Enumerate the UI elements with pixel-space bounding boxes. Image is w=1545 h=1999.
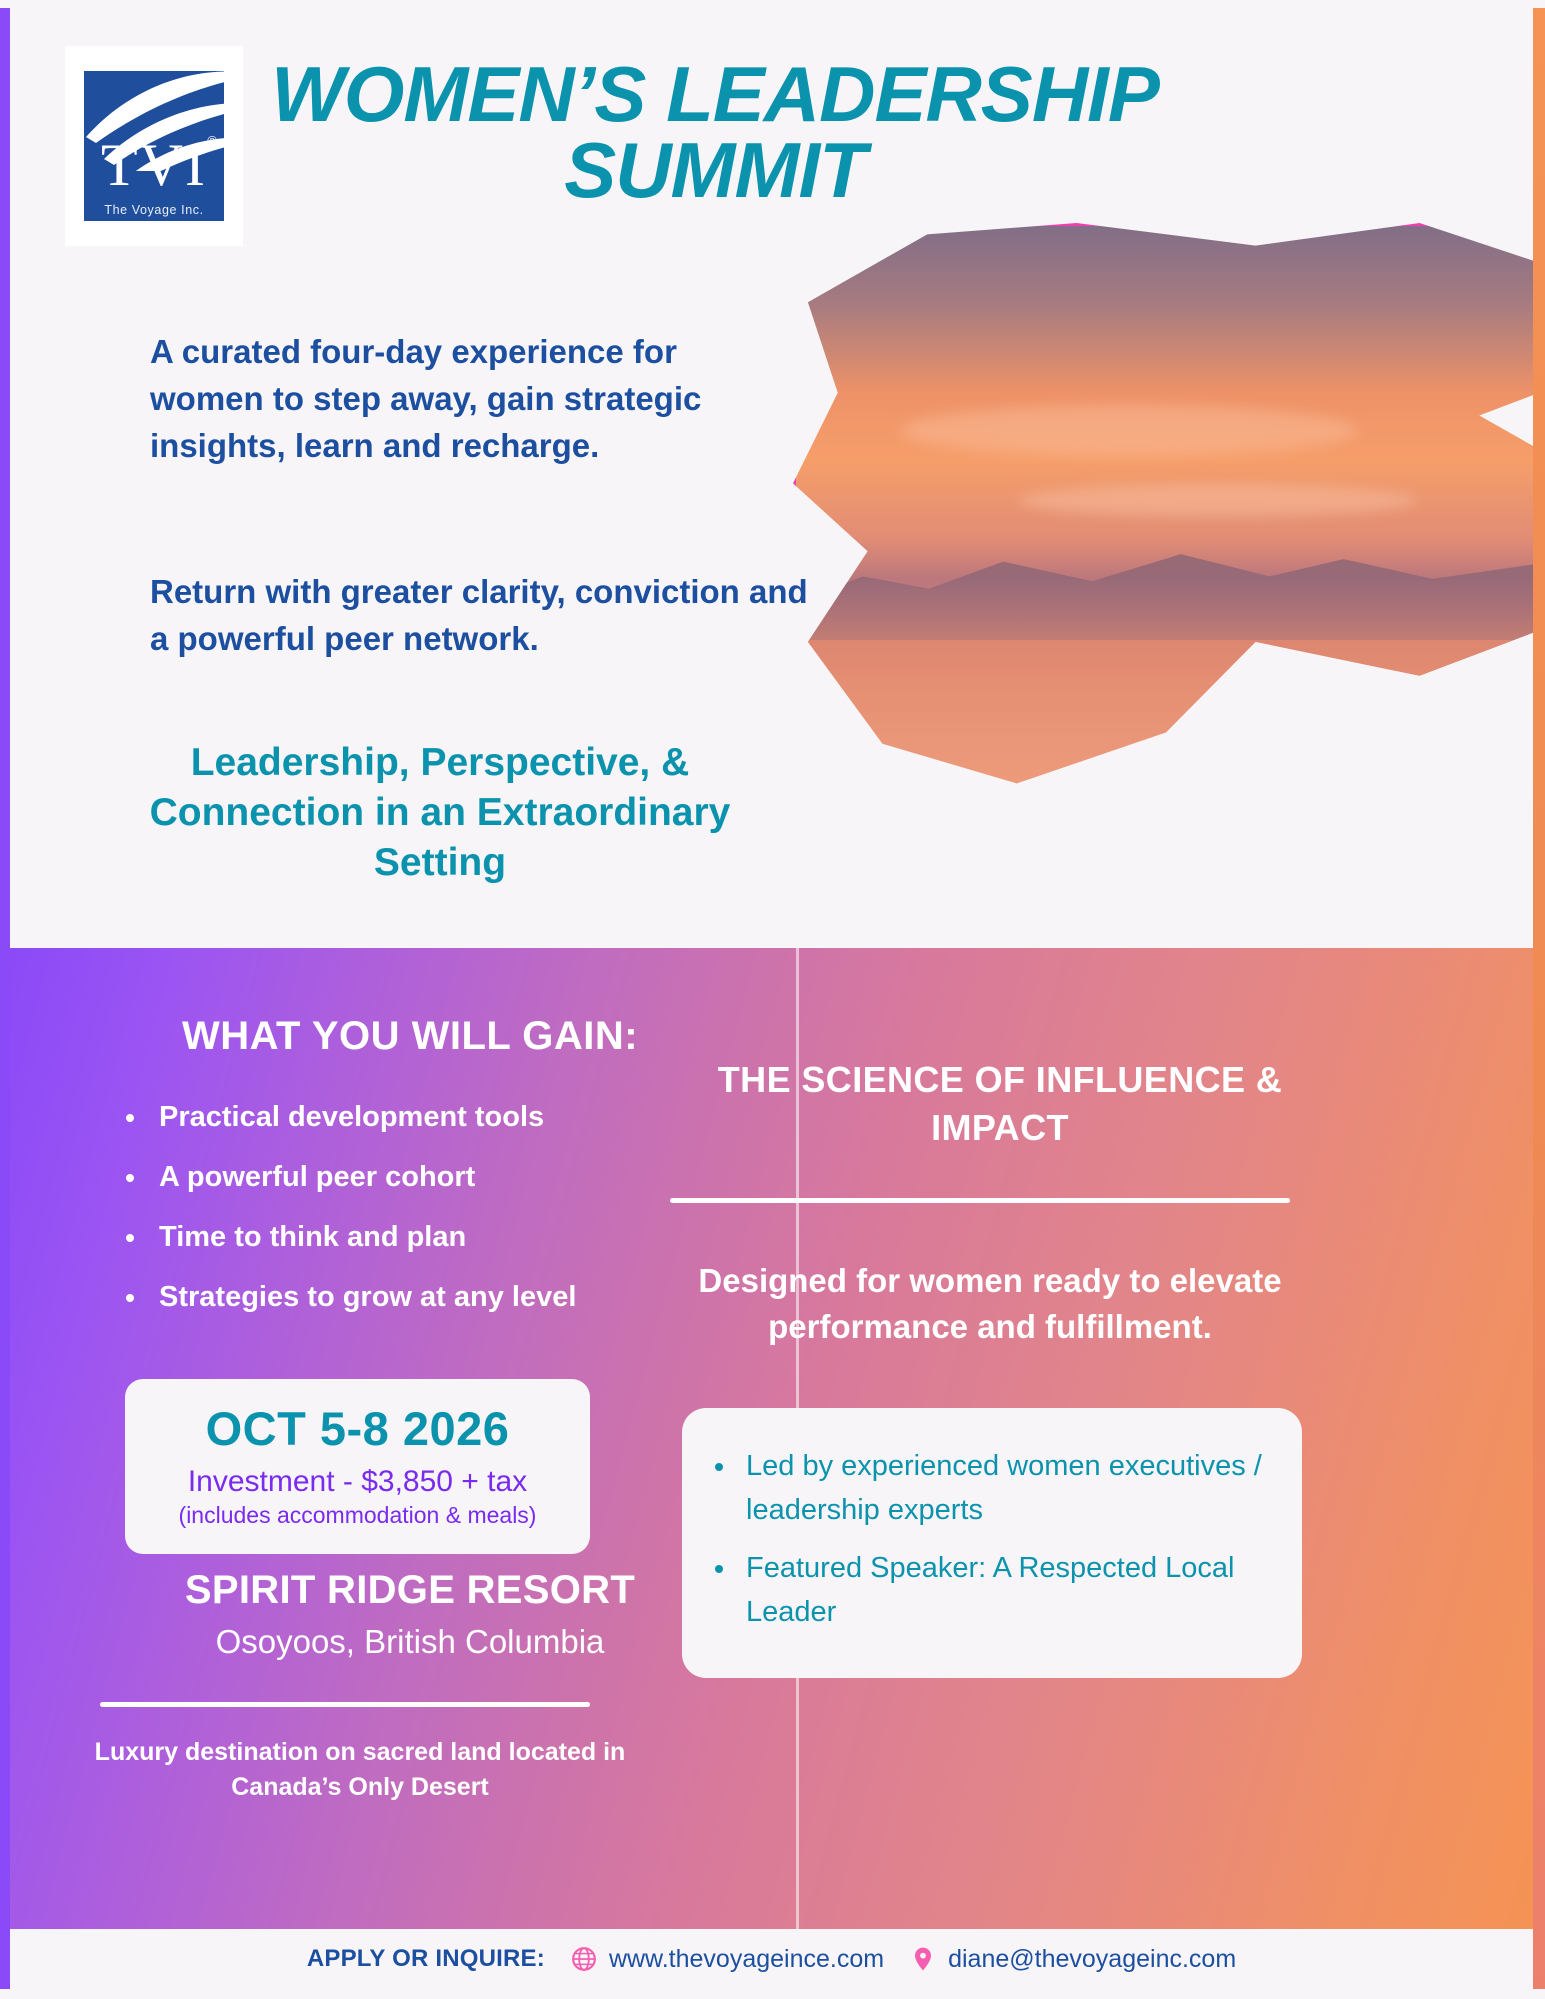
right-accent-border <box>1533 0 1545 1999</box>
list-item: Featured Speaker: A Respected Local Lead… <box>738 1546 1272 1634</box>
venue-description: Luxury destination on sacred land locate… <box>50 1735 670 1804</box>
speakers-bullet-list: Led by experienced women executives / le… <box>682 1408 1302 1678</box>
list-item: A powerful peer cohort <box>149 1163 789 1192</box>
website-url: www.thevoyageince.com <box>609 1945 884 1974</box>
logo-tagline: The Voyage Inc. <box>84 203 224 217</box>
sunset-photo-blob <box>793 223 1533 789</box>
location-pin-icon <box>910 1946 936 1972</box>
hero-section: ® TVI The Voyage Inc. WOMEN’S LEADERSHIP… <box>10 8 1533 948</box>
hero-lead-paragraph: A curated four-day experience for women … <box>150 328 790 470</box>
bottom-margin <box>0 1989 1545 1999</box>
venue-location: Osoyoos, British Columbia <box>70 1623 750 1661</box>
photo-water <box>796 640 1533 786</box>
apply-label: APPLY OR INQUIRE: <box>307 1945 545 1973</box>
logo-mark: ® TVI The Voyage Inc. <box>84 71 224 221</box>
hero-tagline: Leadership, Perspective, & Connection in… <box>140 738 740 888</box>
email-contact[interactable]: diane@thevoyageinc.com <box>910 1945 1236 1974</box>
website-contact[interactable]: www.thevoyageince.com <box>571 1945 884 1974</box>
gain-heading: WHAT YOU WILL GAIN: <box>70 1014 750 1059</box>
footer-contact-bar: APPLY OR INQUIRE: www.thevoyageince.com … <box>10 1929 1533 1989</box>
date-price-card: OCT 5-8 2026 Investment - $3,850 + tax (… <box>125 1379 590 1554</box>
email-address: diane@thevoyageinc.com <box>948 1945 1236 1974</box>
left-horizontal-rule <box>100 1702 590 1707</box>
photo-cloud-highlight <box>900 405 1359 455</box>
photo-cloud-highlight-2 <box>1018 484 1418 518</box>
right-horizontal-rule <box>670 1198 1290 1203</box>
summit-dates: OCT 5-8 2026 <box>125 1401 590 1456</box>
top-margin <box>0 0 1545 8</box>
science-body-text: Designed for women ready to elevate perf… <box>680 1258 1300 1349</box>
hero-lead-paragraph-2: Return with greater clarity, conviction … <box>150 568 810 662</box>
poster: ® TVI The Voyage Inc. WOMEN’S LEADERSHIP… <box>0 0 1545 1999</box>
photo-mountain-range <box>796 517 1533 640</box>
list-item: Led by experienced women executives / le… <box>738 1444 1272 1532</box>
investment-price: Investment - $3,850 + tax <box>125 1465 590 1499</box>
investment-note: (includes accommodation & meals) <box>125 1502 590 1529</box>
logo-letters: TVI <box>84 135 224 195</box>
venue-name: SPIRIT RIDGE RESORT <box>70 1568 750 1613</box>
globe-icon <box>571 1946 597 1972</box>
gradient-panel: WHAT YOU WILL GAIN: Practical developmen… <box>10 948 1533 1949</box>
science-heading: THE SCIENCE OF INFLUENCE & IMPACT <box>670 1056 1330 1152</box>
left-accent-border <box>0 0 10 1999</box>
page-title: WOMEN’S LEADERSHIP SUMMIT <box>265 56 1165 209</box>
list-item: Time to think and plan <box>149 1223 789 1252</box>
tvi-logo: ® TVI The Voyage Inc. <box>65 46 243 246</box>
speakers-card: Led by experienced women executives / le… <box>682 1408 1302 1678</box>
